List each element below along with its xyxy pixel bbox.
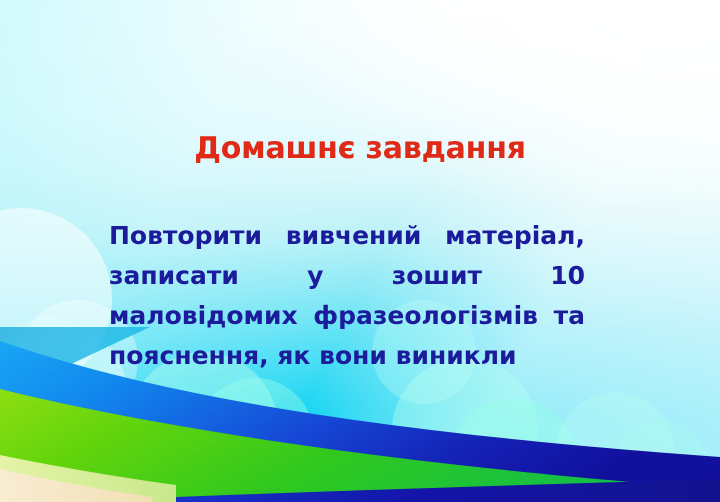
body-word: вони bbox=[319, 336, 387, 376]
body-word: виникли bbox=[396, 336, 517, 376]
body-word: пояснення, bbox=[109, 336, 269, 376]
body-line: маловідомих фразеологізмів та bbox=[109, 296, 585, 336]
body-word: у bbox=[307, 256, 323, 296]
slide-title: Домашнє завдання bbox=[0, 130, 720, 168]
body-word: Повторити bbox=[109, 216, 262, 256]
body-line: Повторити вивчений матеріал, bbox=[109, 216, 585, 256]
body-word: та bbox=[554, 296, 585, 336]
slide-canvas: Домашнє завдання Повторити вивчений мате… bbox=[0, 0, 720, 502]
body-word: маловідомих bbox=[109, 296, 298, 336]
body-word: матеріал, bbox=[445, 216, 585, 256]
body-word: вивчений bbox=[286, 216, 422, 256]
body-word: 10 bbox=[550, 256, 585, 296]
body-word: зошит bbox=[392, 256, 482, 296]
slide-body-text: Повторити вивчений матеріал, записати у … bbox=[109, 216, 585, 376]
body-word: як bbox=[277, 336, 310, 376]
body-line: пояснення, як вони виникли bbox=[109, 336, 585, 376]
body-line: записати у зошит 10 bbox=[109, 256, 585, 296]
body-word: фразеологізмів bbox=[313, 296, 538, 336]
body-word: записати bbox=[109, 256, 239, 296]
